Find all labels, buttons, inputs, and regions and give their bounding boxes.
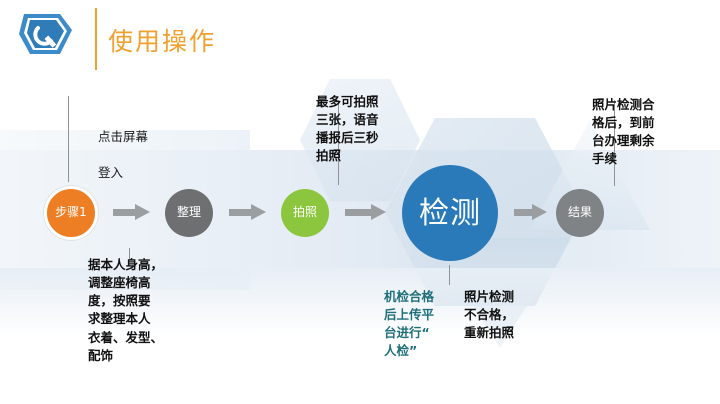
slide-root: 使用操作 步骤1 整理 拍照 检测 结果 点击屏幕 登入 据本人身高， 调整座椅…	[0, 0, 720, 404]
flow-node-step2[interactable]: 整理	[165, 189, 213, 237]
flow-node-step4[interactable]: 检测	[402, 165, 498, 261]
annotation-click-screen: 点击屏幕 登入	[98, 128, 148, 182]
leader-line-detect-down	[449, 265, 450, 285]
flow-node-step5[interactable]: 结果	[556, 189, 604, 237]
annotation-photo-pass: 照片检测合 格后，到前 台办理剩余 手续	[592, 96, 655, 169]
annotation-photo-fail: 照片检测 不合格， 重新拍照	[464, 288, 514, 342]
annotation-photo-rule: 最多可拍照 三张，语音 播报后三秒 拍照	[316, 93, 379, 166]
cube-logo-icon	[16, 8, 76, 66]
annotation-machine-pass: 机检合格 后上传平 台进行“ 人检”	[384, 288, 434, 361]
flow-node-step4-label: 检测	[419, 197, 481, 230]
flow-node-step1[interactable]: 步骤1	[44, 186, 98, 240]
header-accent-rule	[95, 8, 97, 70]
flow-node-step5-label: 结果	[568, 206, 592, 219]
leader-line-step1	[68, 96, 69, 182]
flow-node-step3[interactable]: 拍照	[281, 189, 329, 237]
page-title: 使用操作	[108, 22, 216, 58]
flow-node-step1-label: 步骤1	[55, 206, 87, 219]
flow-node-step3-label: 拍照	[293, 206, 317, 219]
annotation-body-adjust: 据本人身高， 调整座椅高 度，按照要 求整理本人 衣着、发型、 配饰	[88, 256, 163, 365]
flow-node-step2-label: 整理	[177, 206, 201, 219]
